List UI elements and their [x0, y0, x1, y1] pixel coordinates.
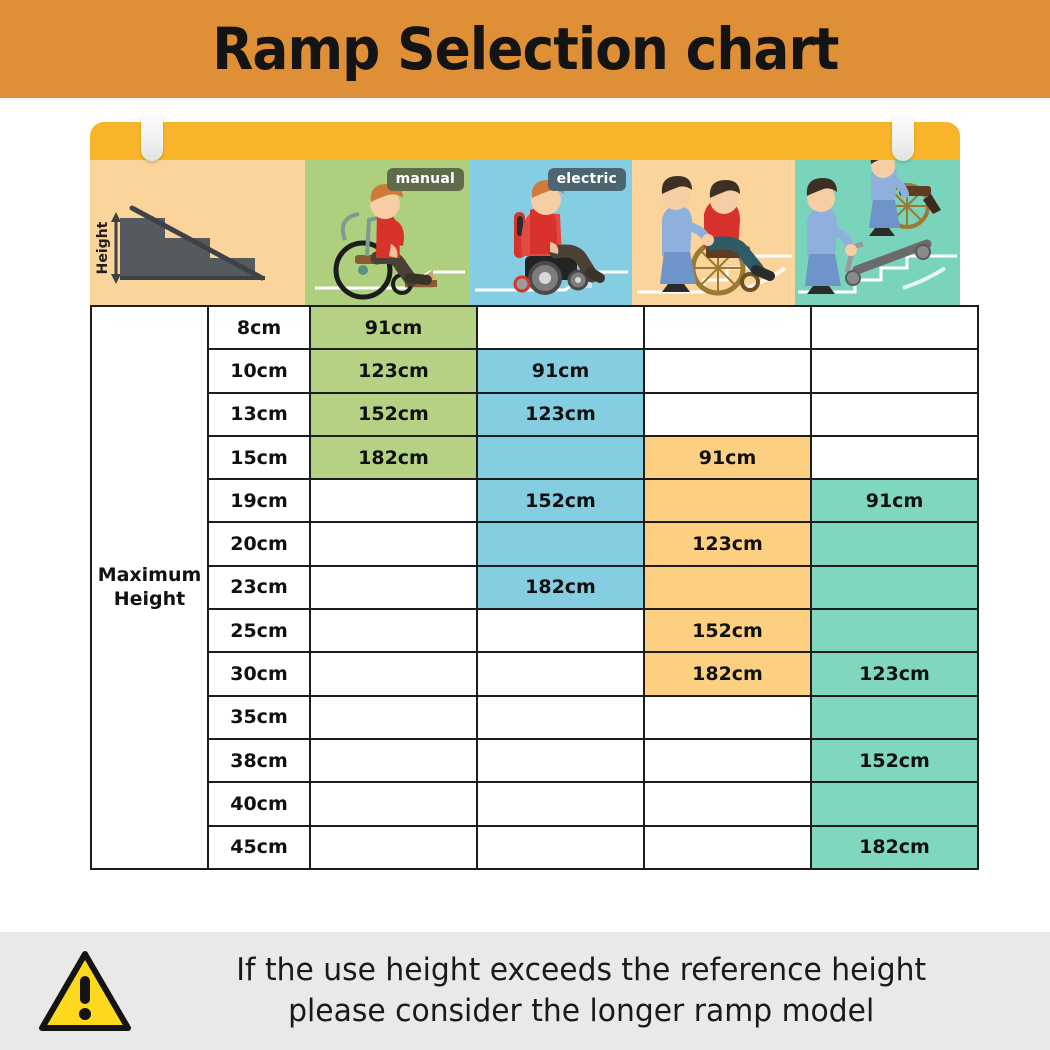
value-cell-trolley [811, 436, 978, 479]
height-cell: 15cm [208, 436, 310, 479]
value-cell-electric [477, 782, 644, 825]
value-cell-attendant [644, 739, 811, 782]
height-cell: 30cm [208, 652, 310, 695]
height-cell: 38cm [208, 739, 310, 782]
height-cell: 45cm [208, 826, 310, 869]
chart-card: Height manual [90, 122, 960, 906]
value-cell-trolley [811, 782, 978, 825]
value-cell-electric [477, 696, 644, 739]
value-cell-trolley: 182cm [811, 826, 978, 869]
value-cell-trolley [811, 696, 978, 739]
height-cell: 19cm [208, 479, 310, 522]
value-cell-manual: 152cm [310, 393, 477, 436]
ramp-table: MaximumHeight8cm91cm10cm123cm91cm13cm152… [90, 305, 979, 870]
table-row: 35cm [91, 696, 978, 739]
value-cell-attendant [644, 826, 811, 869]
value-cell-electric: 123cm [477, 393, 644, 436]
stairs-ramp-diagram-icon: Height [90, 160, 305, 305]
value-cell-trolley [811, 393, 978, 436]
badge-manual: manual [387, 168, 464, 191]
value-cell-manual [310, 479, 477, 522]
value-cell-electric [477, 436, 644, 479]
height-cell: 10cm [208, 349, 310, 392]
value-cell-attendant: 152cm [644, 609, 811, 652]
row-header-line-2: Height [92, 588, 207, 612]
footer-line-1: If the use height exceeds the reference … [188, 950, 975, 991]
value-cell-electric [477, 522, 644, 565]
value-cell-attendant [644, 696, 811, 739]
badge-electric: electric [548, 168, 626, 191]
row-header-line-1: Maximum [92, 564, 207, 588]
footer-text: If the use height exceeds the reference … [188, 950, 1033, 1032]
height-cell: 40cm [208, 782, 310, 825]
value-cell-electric: 91cm [477, 349, 644, 392]
warning-triangle-icon [39, 950, 131, 1032]
table-row: 20cm123cm [91, 522, 978, 565]
value-cell-attendant: 182cm [644, 652, 811, 695]
warning-icon-wrap [0, 950, 170, 1032]
value-cell-attendant [644, 393, 811, 436]
table-row: 40cm [91, 782, 978, 825]
value-cell-manual: 182cm [310, 436, 477, 479]
table-row: 25cm152cm [91, 609, 978, 652]
table-row: 13cm152cm123cm [91, 393, 978, 436]
value-cell-manual [310, 522, 477, 565]
value-cell-electric: 182cm [477, 566, 644, 609]
table-row: 38cm152cm [91, 739, 978, 782]
table-row: 10cm123cm91cm [91, 349, 978, 392]
table-row: 15cm182cm91cm [91, 436, 978, 479]
value-cell-electric [477, 609, 644, 652]
value-cell-manual: 123cm [310, 349, 477, 392]
page-title: Ramp Selection chart [212, 15, 838, 83]
folded-wheelchair-trolley-icon [795, 160, 960, 305]
value-cell-attendant: 91cm [644, 436, 811, 479]
header-cell-manual: manual [305, 160, 470, 305]
value-cell-manual [310, 782, 477, 825]
value-cell-manual [310, 739, 477, 782]
value-cell-manual [310, 826, 477, 869]
height-cell: 13cm [208, 393, 310, 436]
value-cell-attendant [644, 479, 811, 522]
height-cell: 23cm [208, 566, 310, 609]
value-cell-manual [310, 652, 477, 695]
value-cell-manual [310, 696, 477, 739]
table-row: MaximumHeight8cm91cm [91, 306, 978, 349]
footer-line-2: please consider the longer ramp model [188, 991, 975, 1032]
value-cell-attendant [644, 782, 811, 825]
value-cell-electric [477, 306, 644, 349]
value-cell-electric [477, 652, 644, 695]
table-row: 19cm152cm91cm [91, 479, 978, 522]
value-cell-attendant: 123cm [644, 522, 811, 565]
value-cell-trolley: 123cm [811, 652, 978, 695]
value-cell-attendant [644, 306, 811, 349]
height-cell: 20cm [208, 522, 310, 565]
value-cell-manual [310, 566, 477, 609]
hanger-peg-left [141, 109, 163, 161]
title-band: Ramp Selection chart [0, 0, 1050, 98]
value-cell-attendant [644, 566, 811, 609]
table-row: 30cm182cm123cm [91, 652, 978, 695]
value-cell-trolley [811, 349, 978, 392]
card-top-bar [90, 122, 960, 160]
value-cell-trolley [811, 522, 978, 565]
svg-text:Height: Height [95, 221, 111, 274]
header-cell-trolley [795, 160, 960, 305]
column-header-row: Height manual [90, 160, 960, 305]
value-cell-manual [310, 609, 477, 652]
value-cell-trolley: 91cm [811, 479, 978, 522]
header-cell-diagram: Height [90, 160, 305, 305]
value-cell-electric: 152cm [477, 479, 644, 522]
height-cell: 25cm [208, 609, 310, 652]
value-cell-manual: 91cm [310, 306, 477, 349]
ramp-selection-table: MaximumHeight8cm91cm10cm123cm91cm13cm152… [90, 305, 960, 870]
footer-note-bar: If the use height exceeds the reference … [0, 932, 1050, 1050]
table-row: 45cm182cm [91, 826, 978, 869]
value-cell-trolley: 152cm [811, 739, 978, 782]
header-cell-attendant [632, 160, 795, 305]
hanger-peg-right [892, 109, 914, 161]
height-cell: 35cm [208, 696, 310, 739]
table-row: 23cm182cm [91, 566, 978, 609]
attendant-pushed-wheelchair-icon [632, 160, 795, 305]
value-cell-electric [477, 826, 644, 869]
row-header-maximum-height: MaximumHeight [91, 306, 208, 869]
value-cell-trolley [811, 306, 978, 349]
header-cell-electric: electric [470, 160, 632, 305]
value-cell-trolley [811, 609, 978, 652]
value-cell-trolley [811, 566, 978, 609]
height-cell: 8cm [208, 306, 310, 349]
value-cell-electric [477, 739, 644, 782]
value-cell-attendant [644, 349, 811, 392]
